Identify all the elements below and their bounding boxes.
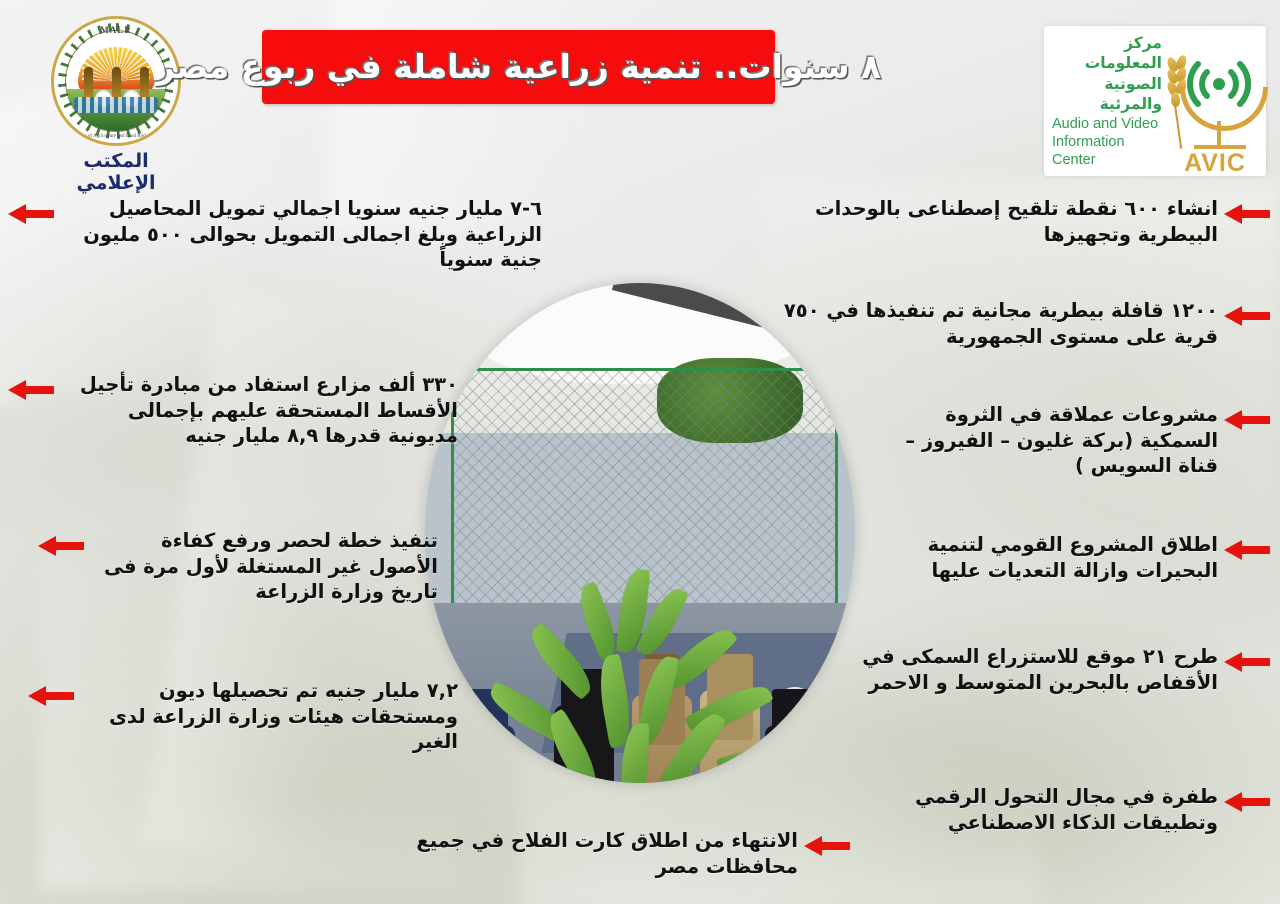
arrow-left-icon — [1224, 202, 1270, 226]
bullet-right-5: طرح ٢١ موقع للاستزراع السمكى في الأقفاص … — [855, 644, 1270, 695]
bullet-left-3-text: تنفيذ خطة لحصر ورفع كفاءة الأصول غير الم… — [90, 528, 438, 605]
media-office-caption: المكتب الإعلامي — [46, 150, 186, 194]
page-title: ٨ سنوات.. تنمية زراعية شاملة في ربوع مصر — [262, 30, 775, 104]
arrow-left-icon — [1224, 650, 1270, 674]
bullet-left-1: ٦-٧ مليار جنيه سنويا اجمالي تمويل المحاص… — [8, 196, 542, 273]
arrow-left-icon — [1224, 538, 1270, 562]
bullet-left-4: ٧,٢ مليار جنيه تم تحصيلها ديون ومستحقات … — [28, 678, 458, 755]
arrow-left-icon — [1224, 408, 1270, 432]
bullet-right-2: ١٢٠٠ قافلة بيطرية مجانية تم تنفيذها في ٧… — [770, 298, 1270, 349]
arrow-left-icon — [1224, 304, 1270, 328]
bullet-left-2: ٣٣٠ ألف مزارع استفاد من مبادرة تأجيل الأ… — [8, 372, 458, 449]
bullet-bottom: الانتهاء من اطلاق كارت الفلاح في جميع مح… — [400, 828, 850, 879]
bullet-right-1-text: انشاء ٦٠٠ نقطة تلقيح إصطناعى بالوحدات ال… — [770, 196, 1218, 247]
ministry-logo: MALR Ministry of Agriculture and Land Re… — [46, 16, 186, 181]
bullet-right-6-text: طفرة في مجال التحول الرقمي وتطبيقات الذك… — [820, 784, 1218, 835]
infographic-page: MALR Ministry of Agriculture and Land Re… — [0, 0, 1280, 904]
arrow-left-icon — [38, 534, 84, 558]
avic-arabic-line2: الصوتية والمرئية — [1052, 74, 1162, 115]
bullet-right-4-text: اطلاق المشروع القومي لتنمية البحيرات واز… — [890, 532, 1218, 583]
bullet-right-1: انشاء ٦٠٠ نقطة تلقيح إصطناعى بالوحدات ال… — [770, 196, 1270, 247]
bullet-left-3: تنفيذ خطة لحصر ورفع كفاءة الأصول غير الم… — [38, 528, 438, 605]
avic-logo: AVIC مركز المعلومات الصوتية والمرئية Aud… — [1044, 26, 1266, 176]
page-title-text: ٨ سنوات.. تنمية زراعية شاملة في ربوع مصر — [156, 49, 881, 85]
avic-acronym: AVIC — [1172, 149, 1258, 178]
bullet-right-4: اطلاق المشروع القومي لتنمية البحيرات واز… — [890, 532, 1270, 583]
arrow-left-icon — [8, 378, 54, 402]
bullet-right-3-text: مشروعات عملاقة في الثروة السمكية (بركة غ… — [890, 402, 1218, 479]
seal-footer-text: Ministry of Agriculture and Land Reclama… — [54, 134, 178, 139]
arrow-left-icon — [804, 834, 850, 858]
bullet-left-1-text: ٦-٧ مليار جنيه سنويا اجمالي تمويل المحاص… — [60, 196, 542, 273]
president-visit-photo — [425, 283, 855, 783]
bullet-right-3: مشروعات عملاقة في الثروة السمكية (بركة غ… — [890, 402, 1270, 479]
bullet-left-4-text: ٧,٢ مليار جنيه تم تحصيلها ديون ومستحقات … — [80, 678, 458, 755]
seal-acronym: MALR — [54, 25, 178, 35]
signal-waves-icon — [1182, 47, 1256, 121]
arrow-left-icon — [1224, 790, 1270, 814]
avic-arabic-line1: مركز المعلومات — [1052, 33, 1162, 74]
bullet-bottom-text: الانتهاء من اطلاق كارت الفلاح في جميع مح… — [400, 828, 798, 879]
bullet-right-2-text: ١٢٠٠ قافلة بيطرية مجانية تم تنفيذها في ٧… — [770, 298, 1218, 349]
bullet-right-6: طفرة في مجال التحول الرقمي وتطبيقات الذك… — [820, 784, 1270, 835]
avic-english-line2: Information Center — [1052, 133, 1162, 169]
arrow-left-icon — [8, 202, 54, 226]
avic-english-line1: Audio and Video — [1052, 115, 1162, 133]
bullet-right-5-text: طرح ٢١ موقع للاستزراع السمكى في الأقفاص … — [855, 644, 1218, 695]
bullet-left-2-text: ٣٣٠ ألف مزارع استفاد من مبادرة تأجيل الأ… — [60, 372, 458, 449]
arrow-left-icon — [28, 684, 74, 708]
avic-mark-icon: AVIC — [1166, 37, 1258, 165]
foreground-plant — [490, 559, 790, 783]
